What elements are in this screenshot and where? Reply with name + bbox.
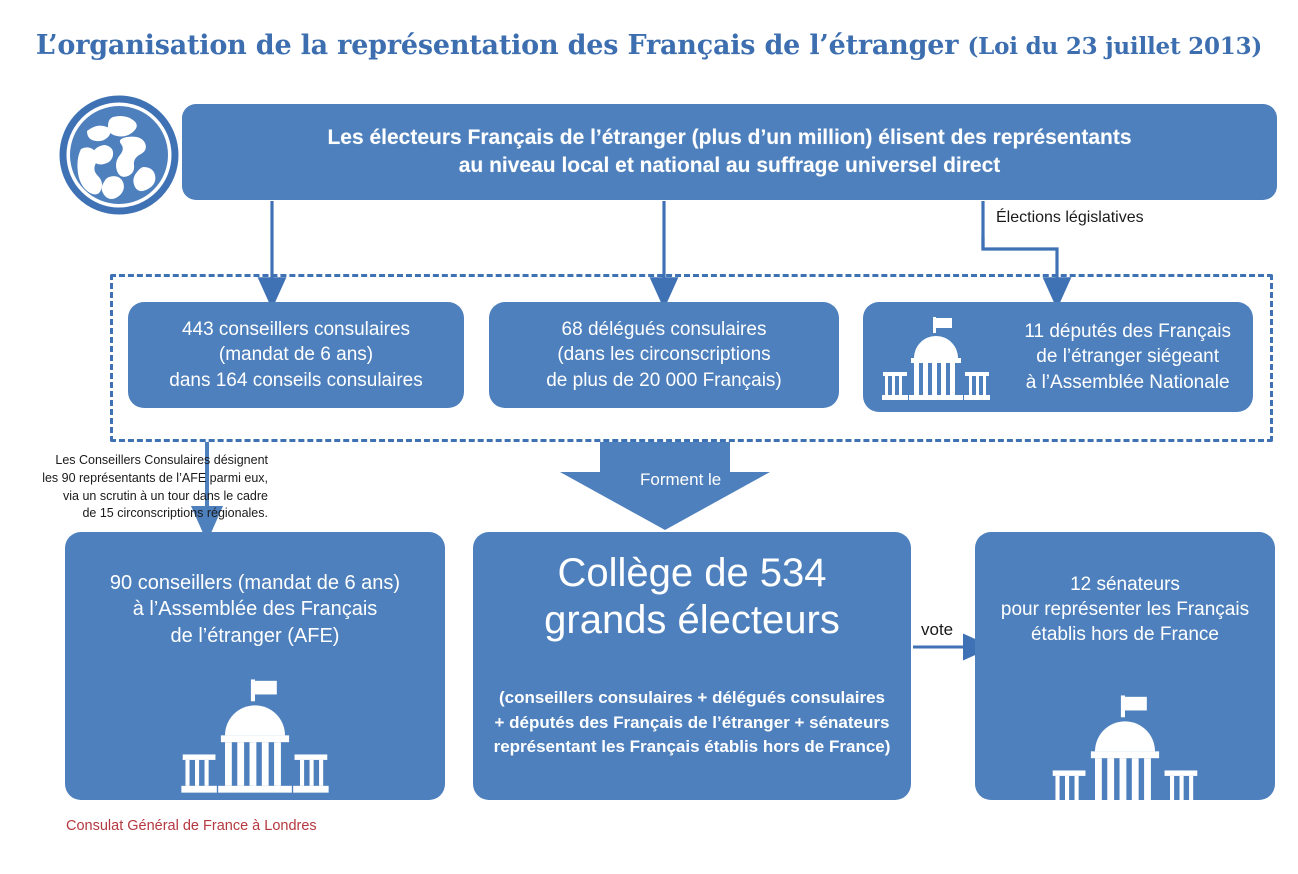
diagram-canvas: L’organisation de la représentation des … — [0, 0, 1298, 874]
college-detail-3: représentant les Français établis hors d… — [494, 735, 891, 759]
globe-icon — [57, 93, 181, 217]
box-delegues-consulaires: 68 délégués consulaires (dans les circon… — [489, 302, 839, 408]
afe-line-2: à l’Assemblée des Français — [110, 596, 400, 622]
deputes-line-3: à l’Assemblée Nationale — [1024, 370, 1231, 395]
banner-line-1: Les électeurs Français de l’étranger (pl… — [327, 124, 1131, 152]
capitol-building-icon — [1050, 691, 1200, 809]
college-detail-2: + députés des Français de l’étranger + s… — [494, 711, 891, 735]
senateurs-line-3: établis hors de France — [1001, 622, 1249, 647]
page-title-law-reference: (Loi du 23 juillet 2013) — [968, 33, 1263, 60]
deputes-line-2: de l’étranger siégeant — [1024, 344, 1231, 369]
deputes-line-1: 11 députés des Français — [1024, 319, 1231, 344]
delegues-line-2: (dans les circonscriptions — [546, 342, 782, 367]
conseillers-line-1: 443 conseillers consulaires — [169, 317, 423, 342]
annotation-line-2: les 90 représentants de l’AFE parmi eux, — [18, 470, 268, 488]
annotation-designation-afe: Les Conseillers Consulaires désignent le… — [18, 452, 268, 523]
box-senateurs: 12 sénateurs pour représenter les França… — [975, 532, 1275, 800]
conseillers-line-2: (mandat de 6 ans) — [169, 342, 423, 367]
senateurs-line-2: pour représenter les Français — [1001, 597, 1249, 622]
afe-line-1: 90 conseillers (mandat de 6 ans) — [110, 570, 400, 596]
delegues-line-1: 68 délégués consulaires — [546, 317, 782, 342]
capitol-building-icon — [180, 675, 330, 793]
capitol-building-icon — [881, 314, 991, 400]
box-college-grands-electeurs: Collège de 534 grands électeurs (conseil… — [473, 532, 911, 800]
label-elections-legislatives: Élections législatives — [992, 208, 1148, 228]
page-title-main: L’organisation de la représentation des … — [36, 30, 958, 61]
college-headline-1: Collège de 534 — [544, 550, 840, 597]
annotation-line-1: Les Conseillers Consulaires désignent — [18, 452, 268, 470]
conseillers-line-3: dans 164 conseils consulaires — [169, 368, 423, 393]
label-vote: vote — [917, 619, 957, 641]
banner-line-2: au niveau local et national au suffrage … — [327, 152, 1131, 180]
college-detail-1: (conseillers consulaires + délégués cons… — [494, 686, 891, 710]
box-assemblee-francais-etranger: 90 conseillers (mandat de 6 ans) à l’Ass… — [65, 532, 445, 800]
delegues-line-3: de plus de 20 000 Français) — [546, 368, 782, 393]
senateurs-line-1: 12 sénateurs — [1001, 572, 1249, 597]
afe-line-3: de l’étranger (AFE) — [110, 623, 400, 649]
box-deputes-francais-etranger: 11 députés des Français de l’étranger si… — [863, 302, 1253, 412]
banner-electors: Les électeurs Français de l’étranger (pl… — [182, 104, 1277, 200]
footer-credit: Consulat Général de France à Londres — [66, 818, 317, 834]
annotation-line-3: via un scrutin à un tour dans le cadre — [18, 488, 268, 506]
page-title: L’organisation de la représentation des … — [0, 30, 1298, 61]
box-conseillers-consulaires: 443 conseillers consulaires (mandat de 6… — [128, 302, 464, 408]
label-forment-le: Forment le — [640, 470, 721, 490]
college-headline-2: grands électeurs — [544, 597, 840, 644]
annotation-line-4: de 15 circonscriptions régionales. — [18, 505, 268, 523]
